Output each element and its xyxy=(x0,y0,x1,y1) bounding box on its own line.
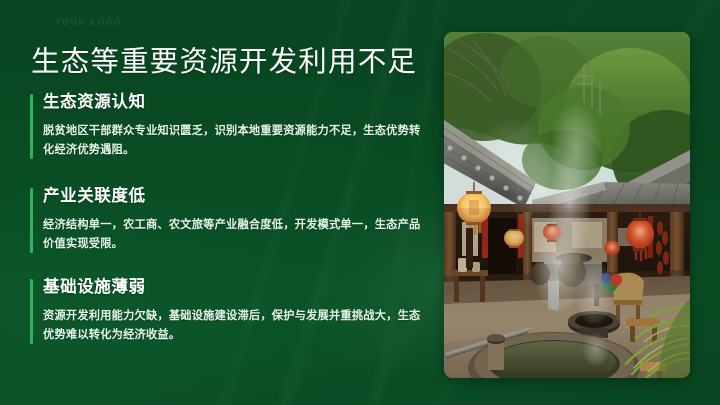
accent-bar xyxy=(30,94,33,159)
slide-canvas: YOUR LOGO 生态等重要资源开发利用不足 生态资源认知 脱贫地区干部群众专… xyxy=(0,0,720,405)
block-heading: 生态资源认知 xyxy=(43,92,430,113)
accent-bar xyxy=(30,279,33,344)
block-body: 经济结构单一，农工商、农文旅等产业融合度低，开发模式单一，生态产品价值实现受限。 xyxy=(43,216,430,255)
block-heading: 基础设施薄弱 xyxy=(43,277,430,298)
block-body: 资源开发利用能力欠缺，基础设施建设滞后，保护与发展并重挑战大，生态优势难以转化为… xyxy=(43,307,430,346)
logo-watermark: YOUR LOGO xyxy=(55,18,123,27)
block-body: 脱贫地区干部群众专业知识匮乏，识别本地重要资源能力不足，生态优势转化经济优势遇阻… xyxy=(43,122,430,161)
accent-bar xyxy=(30,188,33,253)
content-block: 产业关联度低 经济结构单一，农工商、农文旅等产业融合度低，开发模式单一，生态产品… xyxy=(30,186,430,254)
courtyard-photo xyxy=(444,32,690,378)
content-block-list: 生态资源认知 脱贫地区干部群众专业知识匮乏，识别本地重要资源能力不足，生态优势转… xyxy=(30,92,430,345)
block-heading: 产业关联度低 xyxy=(43,186,430,207)
content-block: 生态资源认知 脱贫地区干部群众专业知识匮乏，识别本地重要资源能力不足，生态优势转… xyxy=(30,92,430,160)
page-title: 生态等重要资源开发利用不足 xyxy=(31,46,417,80)
content-block: 基础设施薄弱 资源开发利用能力欠缺，基础设施建设滞后，保护与发展并重挑战大，生态… xyxy=(30,277,430,345)
